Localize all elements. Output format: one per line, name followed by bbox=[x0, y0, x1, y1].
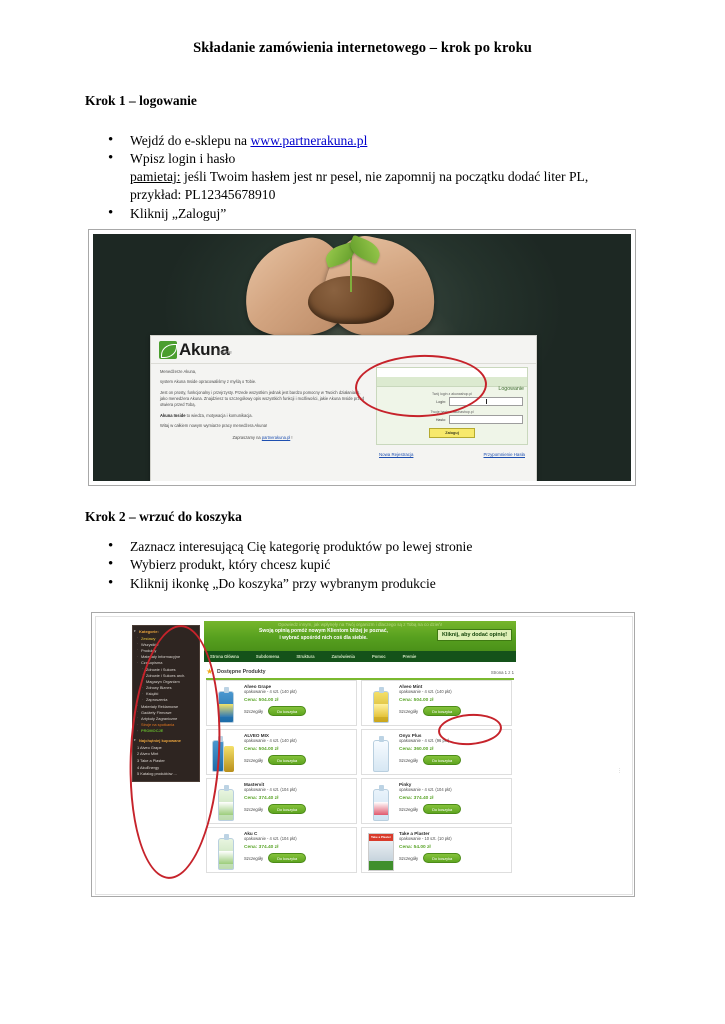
shop-screenshot-figure: Kategorie: ZestawyWszystkieProduktyMater… bbox=[91, 612, 635, 897]
step1-b2-line2: jeśli Twoim hasłem jest nr pesel, nie za… bbox=[181, 169, 589, 184]
product-thumbnail bbox=[365, 782, 395, 822]
plaster-box-footer bbox=[369, 861, 393, 870]
new-registration-link[interactable]: Nowa Rejestracja bbox=[379, 452, 413, 457]
add-to-cart-button[interactable]: Do koszyka bbox=[423, 706, 461, 716]
product-details-link[interactable]: Szczegóły bbox=[399, 758, 418, 763]
logo-divider bbox=[151, 363, 536, 364]
bottle-image bbox=[373, 740, 389, 772]
list-item: Kliknij ikonkę „Do koszyka” przy wybrany… bbox=[130, 575, 690, 593]
product-thumbnail bbox=[365, 684, 395, 724]
product-actions: SzczegółyDo koszyka bbox=[399, 706, 508, 716]
bottle-image bbox=[218, 691, 234, 723]
login-welcome-copy: Menedżerze Akuna, system Akuna Inside op… bbox=[160, 369, 365, 446]
add-to-cart-button[interactable]: Do koszyka bbox=[423, 804, 461, 814]
product-info: Alveo Mintopakowanie - 4 szt. (140 pkt)C… bbox=[399, 684, 508, 722]
login-field-row: Login: bbox=[381, 397, 523, 406]
product-packaging: opakowanie - 4 szt. (104 pkt) bbox=[399, 787, 508, 792]
form-topbar bbox=[376, 367, 528, 377]
nav-item-5[interactable]: Premie bbox=[403, 654, 417, 659]
add-to-cart-button[interactable]: Do koszyka bbox=[423, 755, 461, 765]
product-info: ALVEO MIXopakowanie - 4 szt. (140 pkt)Ce… bbox=[244, 733, 353, 771]
copy-p4: Witaj w całkiem nowym wymiarze pracy men… bbox=[160, 423, 365, 429]
document-page: Składanie zamówienia internetowego – kro… bbox=[0, 0, 725, 1024]
products-title: Dostępne Produkty bbox=[217, 669, 491, 675]
step1-b2-line1: Wpisz login i hasło bbox=[130, 151, 235, 166]
product-price: Cena: 374.40 zł bbox=[399, 796, 508, 801]
login-form: Logowanie Twój login z akunashop.pl Logi… bbox=[376, 367, 528, 457]
bottle-label bbox=[219, 802, 233, 815]
product-details-link[interactable]: Szczegóły bbox=[244, 758, 263, 763]
bottle-image bbox=[373, 691, 389, 723]
form-links: Nowa Rejestracja Przypomnienie Hasła bbox=[376, 452, 528, 457]
product-info: Aku Copakowanie - 4 szt. (104 pkt)Cena: … bbox=[244, 831, 353, 869]
copy-p3-rest: to wiedza, motywacja i komunikacja. bbox=[185, 413, 252, 418]
bottle-label bbox=[213, 753, 223, 766]
add-opinion-button[interactable]: Kliknij, aby dodać opinię! bbox=[437, 629, 512, 641]
bottle-label bbox=[219, 704, 233, 717]
form-body: Twój login z akunashop.pl Login: Twoje h… bbox=[376, 387, 528, 445]
nav-item-2[interactable]: Struktura bbox=[296, 654, 314, 659]
add-to-cart-button[interactable]: Do koszyka bbox=[423, 853, 461, 863]
copy-invite-post: ! bbox=[290, 435, 292, 440]
bottle-label bbox=[219, 851, 233, 864]
product-actions: SzczegółyDo koszyka bbox=[244, 755, 353, 765]
copy-invite-pre: Zapraszamy na bbox=[232, 435, 261, 440]
product-card: Mastervitopakowanie - 4 szt. (104 pkt)Ce… bbox=[206, 778, 357, 824]
step1-b2-line3: przykład: PL12345678910 bbox=[130, 187, 275, 202]
copy-invite: Zapraszamy na partnerakuna.pl ! bbox=[160, 435, 365, 441]
akuna-logo: Akunainside bbox=[159, 341, 244, 360]
copy-greeting: Menedżerze Akuna, bbox=[160, 369, 365, 375]
password-field-row: Hasło: bbox=[381, 415, 523, 424]
product-price: Cena: 504.00 zł bbox=[244, 747, 353, 752]
step2-b3: Kliknij ikonkę „Do koszyka” przy wybrany… bbox=[130, 576, 436, 591]
bestseller-item-1[interactable]: 2 Alveo Mint bbox=[133, 751, 199, 758]
step2-b2: Wybierz produkt, który chcesz kupić bbox=[130, 557, 330, 572]
bestseller-item-4[interactable]: 5 Katalog produktów ... bbox=[133, 770, 199, 777]
product-details-link[interactable]: Szczegóły bbox=[399, 856, 418, 861]
login-label: Login: bbox=[436, 400, 446, 404]
bestseller-item-3[interactable]: 4 AkuEnergy bbox=[133, 764, 199, 771]
product-price: Cena: 504.00 zł bbox=[244, 698, 353, 703]
list-item: Wpisz login i hasło pamietaj: jeśli Twoi… bbox=[130, 150, 690, 204]
password-input[interactable] bbox=[449, 415, 523, 424]
list-item: Wejdź do e-sklepu na www.partnerakuna.pl bbox=[130, 132, 690, 150]
product-thumbnail bbox=[210, 782, 240, 822]
product-info: Alveo Grapeopakowanie - 4 szt. (140 pkt)… bbox=[244, 684, 353, 722]
shop-sidebar: Kategorie: ZestawyWszystkieProduktyMater… bbox=[132, 625, 200, 782]
step2-heading: Krok 2 – wrzuć do koszyka bbox=[85, 509, 242, 525]
step1-b3-text: Kliknij „Zaloguj” bbox=[130, 206, 226, 221]
product-packaging: opakowanie - 4 szt. (140 pkt) bbox=[244, 738, 353, 743]
login-page-capture: Akunainside Menedżerze Akuna, system Aku… bbox=[93, 234, 631, 481]
login-screenshot-figure: Akunainside Menedżerze Akuna, system Aku… bbox=[88, 229, 636, 486]
password-label: Hasło: bbox=[436, 418, 446, 422]
products-header: ★ Dostępne Produkty Strona 1 z 1 bbox=[206, 668, 514, 680]
plant-stem bbox=[350, 254, 352, 292]
product-actions: SzczegółyDo koszyka bbox=[399, 755, 508, 765]
form-title: Logowanie bbox=[498, 386, 524, 392]
opinion-banner: Opowiedz innym, jak wpłynęły na Twój org… bbox=[204, 621, 516, 651]
list-item: Kliknij „Zaloguj” bbox=[130, 205, 690, 223]
product-details-link[interactable]: Szczegóły bbox=[399, 807, 418, 812]
login-hint: Twój login z akunashop.pl bbox=[381, 392, 523, 396]
plaster-box-title: Take a Plaster bbox=[369, 834, 393, 841]
list-item: Wybierz produkt, który chcesz kupić bbox=[130, 556, 690, 574]
product-card: Take a PlasterTake a Plasteropakowanie -… bbox=[361, 827, 512, 873]
nav-item-3[interactable]: Zamówienia bbox=[332, 654, 355, 659]
step1-b1-pre: Wejdź do e-sklepu na bbox=[130, 133, 250, 148]
bestseller-item-0[interactable]: 1 Alveo Grape bbox=[133, 744, 199, 751]
product-actions: SzczegółyDo koszyka bbox=[244, 804, 353, 814]
page-title: Składanie zamówienia internetowego – kro… bbox=[0, 40, 725, 57]
password-hint: Twoje hasło z akunashop.pl bbox=[381, 410, 523, 414]
shop-main-nav: Strona GłównaSubdomenaStrukturaZamówieni… bbox=[204, 651, 516, 662]
sidebar-bestsellers-heading[interactable]: Najchętniej kupowane bbox=[133, 737, 199, 744]
akuna-inside-superscript: inside bbox=[217, 350, 231, 356]
product-card: ALVEO MIXopakowanie - 4 szt. (140 pkt)Ce… bbox=[206, 729, 357, 775]
bottle-label bbox=[374, 753, 388, 766]
pagination-label: Strona 1 z 1 bbox=[491, 670, 514, 675]
product-info: Onyx Plusopakowanie - 4 szt. (96 pkt)Cen… bbox=[399, 733, 508, 771]
form-titlebar: Logowanie bbox=[376, 377, 528, 387]
product-details-link[interactable]: Szczegóły bbox=[244, 856, 263, 861]
product-card: Pinkyopakowanie - 4 szt. (104 pkt)Cena: … bbox=[361, 778, 512, 824]
product-price: Cena: 374.40 zł bbox=[244, 796, 353, 801]
sidebar-item-15[interactable]: PROMOCJE bbox=[133, 728, 199, 734]
product-packaging: opakowanie - 4 szt. (140 pkt) bbox=[399, 689, 508, 694]
product-price: Cena: 374.40 zł bbox=[244, 845, 353, 850]
add-to-cart-button[interactable]: Do koszyka bbox=[268, 804, 306, 814]
product-thumbnail bbox=[210, 831, 240, 871]
bestseller-item-2[interactable]: 3 Take a Plaster bbox=[133, 757, 199, 764]
products-grid: Alveo Grapeopakowanie - 4 szt. (140 pkt)… bbox=[206, 680, 516, 873]
list-item: Zaznacz interesującą Cię kategorię produ… bbox=[130, 538, 690, 556]
product-details-link[interactable]: Szczegóły bbox=[244, 807, 263, 812]
step2-bullet-list: Zaznacz interesującą Cię kategorię produ… bbox=[100, 538, 690, 593]
copy-p3: Akuna Inside to wiedza, motywacja i komu… bbox=[160, 413, 365, 419]
product-price: Cena: 54.00 zł bbox=[399, 845, 508, 850]
add-to-cart-button[interactable]: Do koszyka bbox=[268, 706, 306, 716]
copy-p3-bold: Akuna Inside bbox=[160, 413, 185, 418]
product-packaging: opakowanie - 4 szt. (140 pkt) bbox=[244, 689, 353, 694]
copy-p1: system Akuna Inside opracowaliśmy z myśl… bbox=[160, 379, 365, 385]
nav-item-0[interactable]: Strona Główna bbox=[210, 654, 239, 659]
bottle-image bbox=[218, 789, 234, 821]
product-packaging: opakowanie - 4 szt. (104 pkt) bbox=[244, 836, 353, 841]
bottle-image bbox=[373, 789, 389, 821]
bottle-image bbox=[218, 838, 234, 870]
nav-item-1[interactable]: Subdomena bbox=[256, 654, 279, 659]
step1-heading: Krok 1 – logowanie bbox=[85, 93, 197, 109]
product-card: Onyx Plusopakowanie - 4 szt. (96 pkt)Cen… bbox=[361, 729, 512, 775]
text-caret bbox=[486, 399, 487, 404]
product-details-link[interactable]: Szczegóły bbox=[244, 709, 263, 714]
scroll-indicator: ⋮ bbox=[617, 769, 622, 774]
product-card: Alveo Mintopakowanie - 4 szt. (140 pkt)C… bbox=[361, 680, 512, 726]
product-packaging: opakowanie - 10 szt. (10 pkt) bbox=[399, 836, 508, 841]
product-actions: SzczegółyDo koszyka bbox=[244, 853, 353, 863]
bottle-label bbox=[374, 704, 388, 717]
plaster-box-photo bbox=[369, 841, 393, 861]
add-to-cart-button[interactable]: Do koszyka bbox=[268, 853, 306, 863]
product-thumbnail bbox=[210, 684, 240, 724]
product-actions: SzczegółyDo koszyka bbox=[244, 706, 353, 716]
star-icon: ★ bbox=[206, 668, 214, 676]
sidebar-categories-heading[interactable]: Kategorie: bbox=[133, 628, 199, 635]
add-to-cart-button[interactable]: Do koszyka bbox=[268, 755, 306, 765]
copy-invite-link[interactable]: partnerakuna.pl bbox=[262, 435, 290, 440]
bottle-image bbox=[212, 740, 224, 772]
password-reminder-link[interactable]: Przypomnienie Hasła bbox=[484, 452, 526, 457]
banner-line1: Swoją opinią pomóż nowym Klientom bliżej… bbox=[259, 628, 388, 634]
product-price: Cena: 504.00 zł bbox=[399, 698, 508, 703]
plaster-box-image: Take a Plaster bbox=[368, 833, 394, 871]
product-card: Aku Copakowanie - 4 szt. (104 pkt)Cena: … bbox=[206, 827, 357, 873]
nav-item-4[interactable]: Pomoc bbox=[372, 654, 386, 659]
banner-row: Swoją opinią pomóż nowym Klientom bliżej… bbox=[204, 627, 516, 642]
banner-message: Swoją opinią pomóż nowym Klientom bliżej… bbox=[210, 628, 437, 642]
leaf-logo-icon bbox=[159, 341, 177, 359]
product-actions: SzczegółyDo koszyka bbox=[399, 804, 508, 814]
product-details-link[interactable]: Szczegóły bbox=[399, 709, 418, 714]
product-packaging: opakowanie - 4 szt. (96 pkt) bbox=[399, 738, 508, 743]
shop-page-capture: Kategorie: ZestawyWszystkieProduktyMater… bbox=[95, 616, 633, 895]
step2-b1: Zaznacz interesującą Cię kategorię produ… bbox=[130, 539, 472, 554]
step1-b2-remember-label: pamietaj: bbox=[130, 169, 181, 184]
product-info: Mastervitopakowanie - 4 szt. (104 pkt)Ce… bbox=[244, 782, 353, 820]
login-panel: Akunainside Menedżerze Akuna, system Aku… bbox=[150, 335, 537, 481]
partnerakuna-link[interactable]: www.partnerakuna.pl bbox=[250, 133, 367, 148]
product-thumbnail: Take a Plaster bbox=[365, 831, 395, 871]
product-info: Pinkyopakowanie - 4 szt. (104 pkt)Cena: … bbox=[399, 782, 508, 820]
product-info: Take a Plasteropakowanie - 10 szt. (10 p… bbox=[399, 831, 508, 869]
product-thumbnail bbox=[210, 733, 240, 773]
banner-top-line: Opowiedz innym, jak wpłynęły na Twój org… bbox=[204, 621, 516, 627]
product-thumbnail bbox=[365, 733, 395, 773]
banner-line2: i wybrać spośród nich coś dla siebie. bbox=[279, 635, 367, 641]
step1-bullet-list: Wejdź do e-sklepu na www.partnerakuna.pl… bbox=[100, 132, 690, 223]
product-packaging: opakowanie - 4 szt. (104 pkt) bbox=[244, 787, 353, 792]
login-submit-button[interactable]: Zaloguj bbox=[429, 428, 475, 438]
login-input[interactable] bbox=[449, 397, 523, 406]
bottle-label bbox=[374, 802, 388, 815]
product-price: Cena: 360.00 zł bbox=[399, 747, 508, 752]
copy-p2: Jest on prosty, funkcjonalny i przejrzys… bbox=[160, 390, 365, 409]
product-card: Alveo Grapeopakowanie - 4 szt. (140 pkt)… bbox=[206, 680, 357, 726]
product-actions: SzczegółyDo koszyka bbox=[399, 853, 508, 863]
